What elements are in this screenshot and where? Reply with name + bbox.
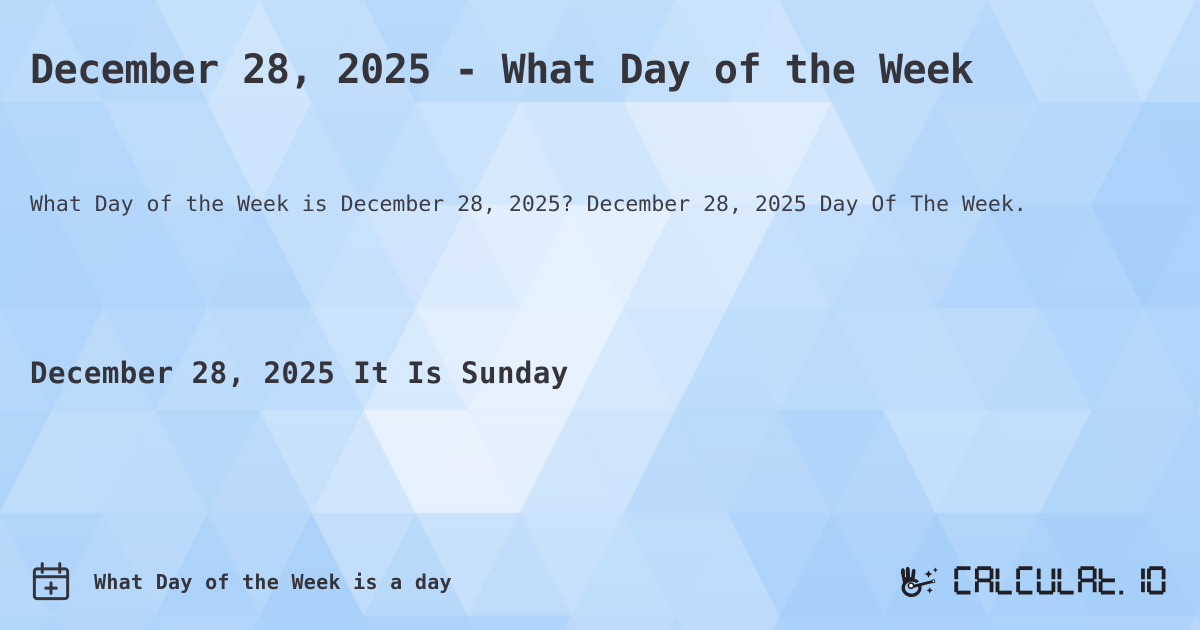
footer-left: What Day of the Week is a day — [30, 561, 452, 603]
footer-tagline: What Day of the Week is a day — [94, 570, 452, 594]
page-title: December 28, 2025 - What Day of the Week — [30, 44, 1150, 97]
brand-wordmark — [952, 563, 1170, 601]
calendar-plus-icon — [30, 561, 72, 603]
footer: What Day of the Week is a day — [0, 556, 1200, 608]
magic-wand-hand-icon — [896, 562, 948, 602]
og-card: December 28, 2025 - What Day of the Week… — [0, 0, 1200, 630]
page-description: What Day of the Week is December 28, 202… — [30, 185, 1100, 225]
result-answer: December 28, 2025 It Is Sunday — [30, 356, 569, 390]
brand-logo[interactable]: CALCULAT.IO — [896, 562, 1170, 602]
